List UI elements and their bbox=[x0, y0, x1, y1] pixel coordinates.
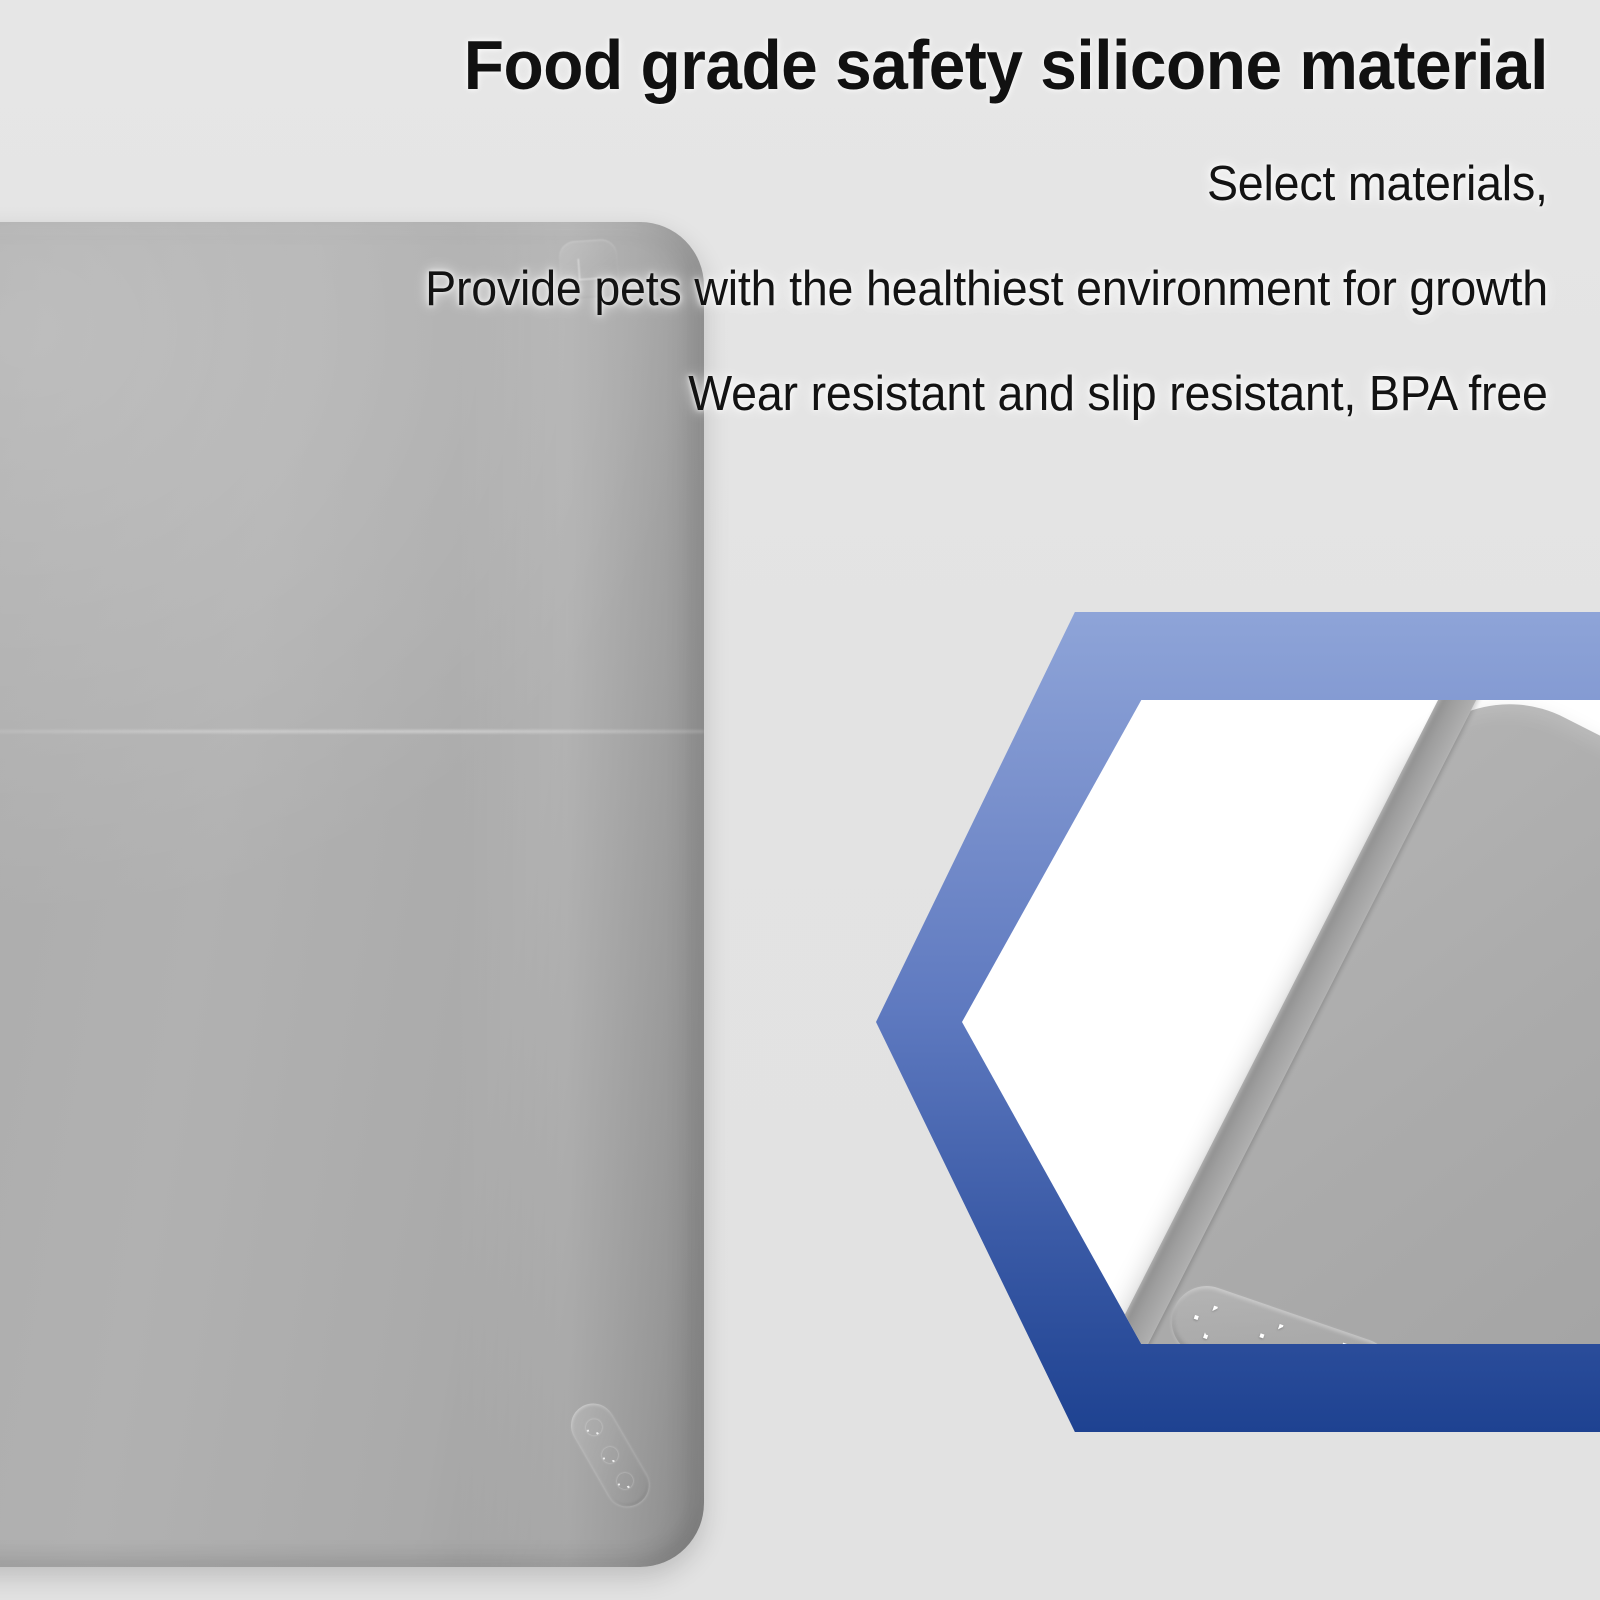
asterisk-icon bbox=[1255, 1319, 1298, 1344]
asterisk-icon bbox=[1189, 1301, 1232, 1344]
product-image-main-mat bbox=[0, 222, 704, 1567]
mat-fold-line bbox=[0, 730, 704, 733]
mat-sheen bbox=[454, 222, 704, 1567]
detail-badge-hexagon bbox=[876, 612, 1600, 1432]
page-title: Food grade safety silicone material bbox=[93, 30, 1548, 100]
mat-raised-lip bbox=[1112, 700, 1487, 1344]
mat-corner-closeup bbox=[1112, 700, 1600, 1344]
product-feature-banner: Food grade safety silicone material Sele… bbox=[0, 0, 1600, 1600]
feature-line-3: Wear resistant and slip resistant, BPA f… bbox=[689, 370, 1548, 419]
feature-line-1: Select materials, bbox=[1207, 160, 1548, 209]
asterisk-icon bbox=[614, 1470, 636, 1492]
asterisk-icon bbox=[1318, 1338, 1361, 1344]
asterisk-icon bbox=[583, 1416, 605, 1438]
closeup-corner-tab bbox=[1162, 1277, 1402, 1344]
feature-line-2: Provide pets with the healthiest environ… bbox=[425, 265, 1548, 314]
asterisk-icon bbox=[599, 1444, 621, 1466]
